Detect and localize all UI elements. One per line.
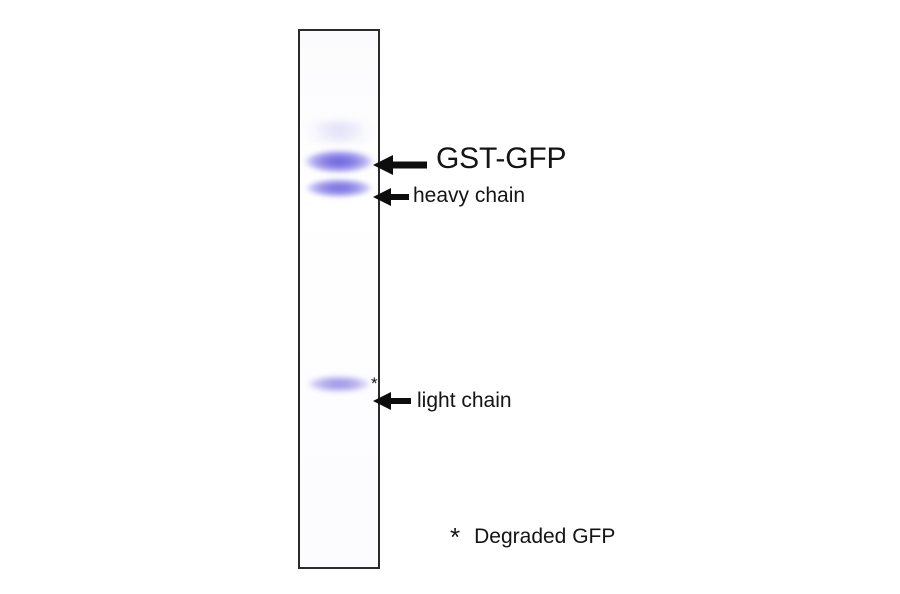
heavy-chain-arrow-icon: [373, 186, 409, 208]
gel-lane-speckle: [300, 31, 378, 567]
band-heavy-chain: [303, 178, 375, 198]
gel-figure: * GST-GFP heavy chain light chain * Degr…: [0, 0, 900, 594]
legend-asterisk-icon: *: [450, 526, 460, 548]
gst-gfp-label: GST-GFP: [436, 142, 566, 176]
gst-gfp-arrow-icon: [373, 153, 427, 177]
heavy-chain-label: heavy chain: [413, 184, 525, 208]
legend-label: Degraded GFP: [474, 525, 615, 549]
legend: * Degraded GFP: [450, 525, 615, 549]
band-gst-gfp: [301, 149, 377, 174]
gel-lane: [298, 29, 380, 569]
degraded-gfp-star-marker: *: [371, 377, 378, 391]
band-light-chain: [305, 375, 373, 393]
light-chain-label: light chain: [417, 389, 512, 413]
band-faint-smear-lower: [302, 130, 376, 146]
light-chain-arrow-icon: [373, 390, 411, 412]
